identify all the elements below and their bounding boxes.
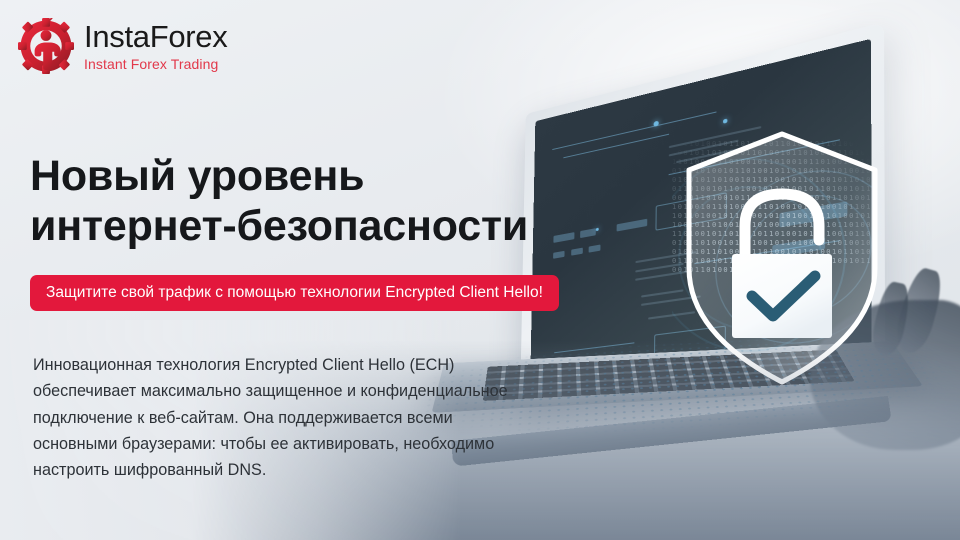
logo-wordmark: InstaForex Instant Forex Trading (84, 21, 227, 71)
headline-line-2: интернет-безопасности (30, 202, 630, 252)
instaforex-logo[interactable]: InstaForex Instant Forex Trading (18, 18, 227, 74)
headline-line-1: Новый уровень (30, 152, 630, 202)
promo-banner: 1011010010110100101101001011010010110100… (0, 0, 960, 540)
body-paragraph: Инновационная технология Encrypted Clien… (33, 352, 538, 483)
gear-person-icon (18, 18, 74, 74)
status-badge[interactable]: Защитите свой трафик с помощью технологи… (30, 275, 559, 311)
page-title: Новый уровень интернет-безопасности (30, 152, 630, 252)
brand-name: InstaForex (84, 21, 227, 52)
brand-tagline: Instant Forex Trading (84, 57, 227, 71)
